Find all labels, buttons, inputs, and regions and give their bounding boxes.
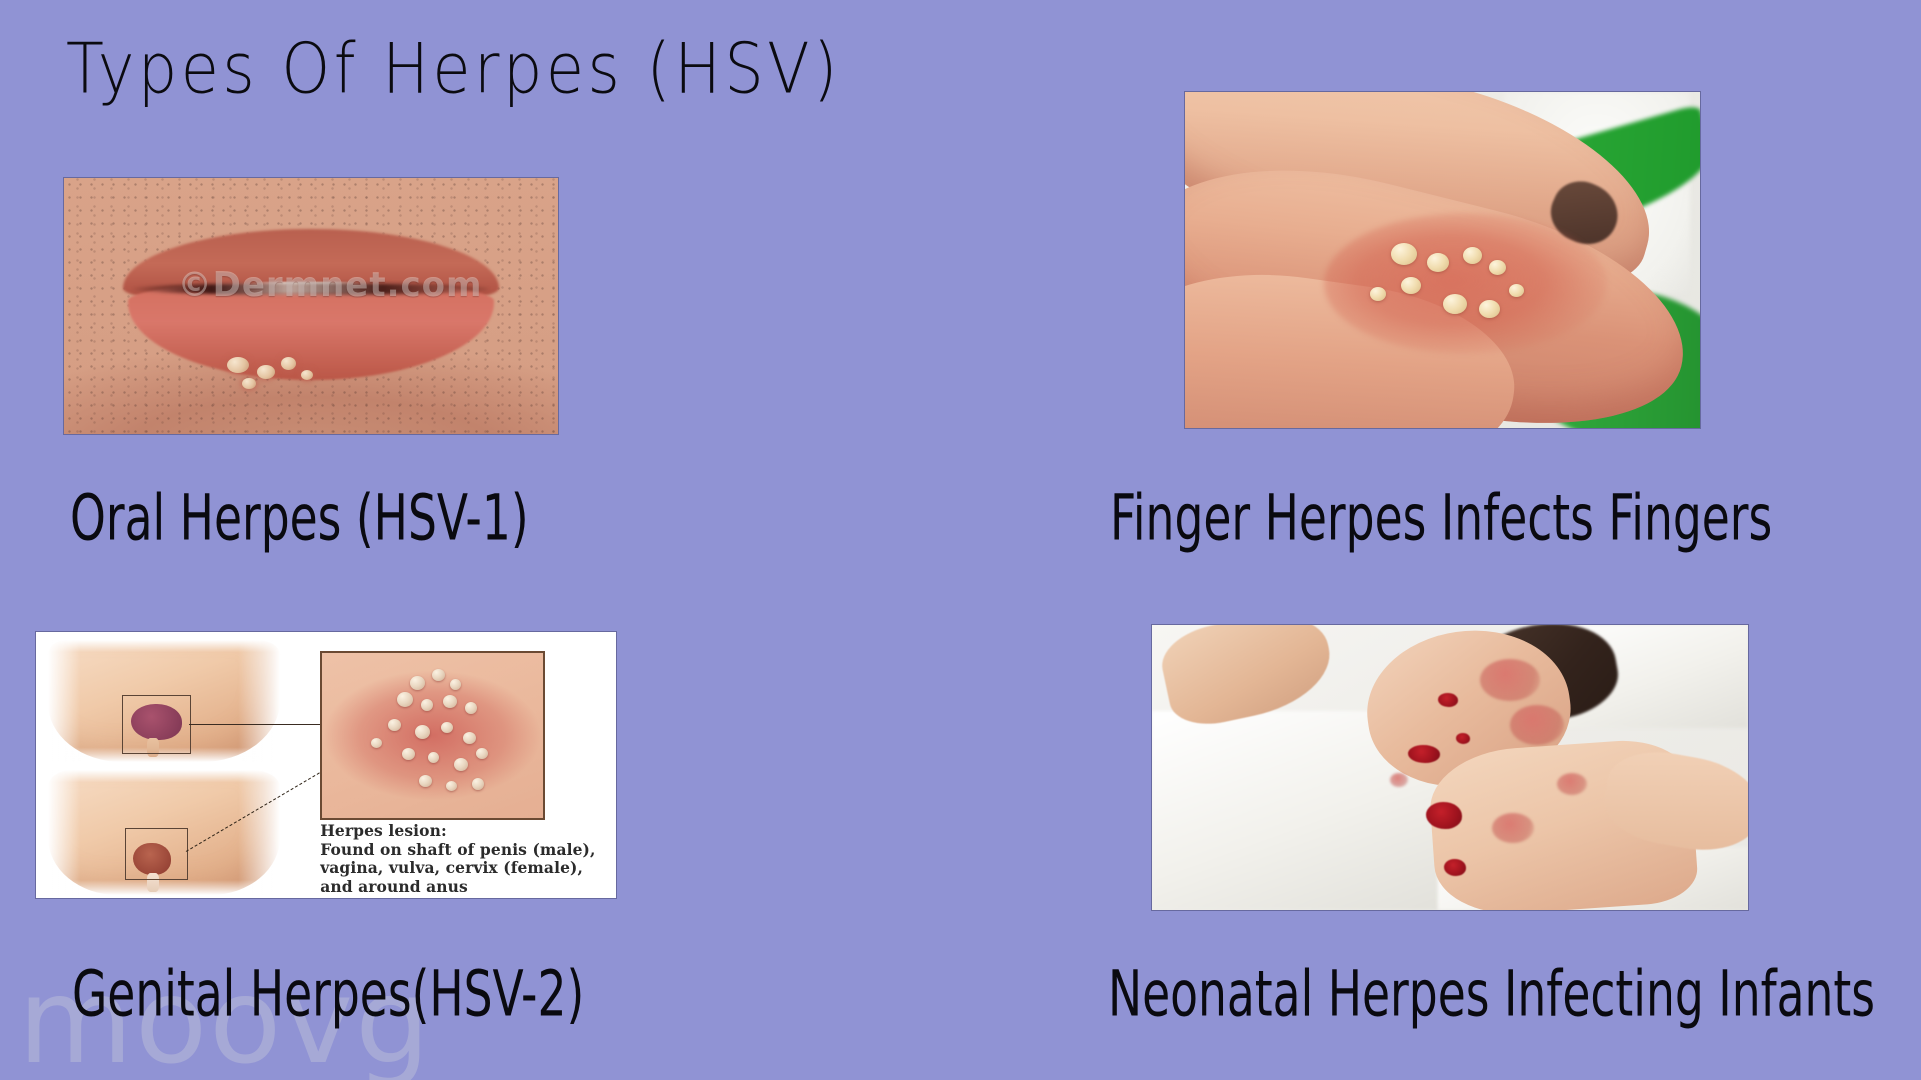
lesion-description-text: Herpes lesion: Found on shaft of penis (… xyxy=(320,822,595,896)
lesion-vesicle xyxy=(465,702,477,714)
finger-herpes-caption: Finger Herpes Infects Fingers xyxy=(1110,486,1772,550)
oral-herpes-caption: Oral Herpes (HSV-1) xyxy=(70,486,529,550)
lesion-vesicle xyxy=(454,758,468,771)
skin-lesion xyxy=(1408,745,1440,763)
cold-sore-blister xyxy=(242,378,256,389)
herpetic-vesicle xyxy=(1509,284,1524,297)
genital-herpes-image: Herpes lesion: Found on shaft of penis (… xyxy=(36,632,616,898)
erythema-patch xyxy=(1324,213,1607,354)
male-leader-line xyxy=(189,724,321,725)
skin-lesion xyxy=(1492,813,1534,843)
lesion-vesicle xyxy=(443,695,457,708)
herpetic-vesicle xyxy=(1401,277,1421,294)
mouth-line xyxy=(133,283,489,295)
lesion-vesicle xyxy=(463,732,476,744)
skin-lesion xyxy=(1456,733,1470,744)
lesion-vesicle xyxy=(421,699,433,711)
magnified-lesion-inset xyxy=(320,651,544,820)
skin-lesion xyxy=(1480,659,1540,701)
lesion-vesicle xyxy=(446,781,457,791)
oral-herpes-image: ©Dermnet.com xyxy=(64,178,558,434)
lesion-vesicle xyxy=(476,748,488,759)
female-callout-box xyxy=(125,828,188,881)
herpetic-vesicle xyxy=(1443,294,1467,314)
skin-lesion xyxy=(1426,802,1462,829)
herpetic-vesicle xyxy=(1489,260,1506,275)
neonatal-herpes-caption: Neonatal Herpes Infecting Infants xyxy=(1108,962,1875,1026)
skin-lesion xyxy=(1438,693,1458,707)
lesion-vesicle xyxy=(397,692,413,707)
skin-lesion xyxy=(1510,705,1564,745)
lesion-vesicle xyxy=(415,725,430,739)
lesion-vesicle xyxy=(410,676,425,690)
skin-lesion xyxy=(1444,859,1466,876)
lesion-vesicle xyxy=(472,778,484,790)
genital-herpes-caption: Genital Herpes(HSV-2) xyxy=(72,962,584,1026)
finger-herpes-image xyxy=(1185,92,1700,428)
neonatal-herpes-image xyxy=(1152,625,1748,910)
lesion-vesicle xyxy=(428,752,439,763)
herpetic-vesicle xyxy=(1463,247,1482,264)
slide-canvas: moovg Types Of Herpes (HSV) ©Dermnet.com… xyxy=(0,0,1921,1080)
cold-sore-blister xyxy=(257,365,275,379)
lesion-vesicle xyxy=(419,775,432,787)
lesion-vesicle xyxy=(371,738,382,748)
lesion-vesicle xyxy=(441,722,453,733)
page-title: Types Of Herpes (HSV) xyxy=(66,32,841,105)
lesion-vesicle xyxy=(450,679,461,690)
male-callout-box xyxy=(122,695,191,754)
lesion-vesicle xyxy=(388,719,401,731)
herpetic-vesicle xyxy=(1479,300,1500,318)
lesion-vesicle xyxy=(402,748,415,760)
lesion-vesicle xyxy=(432,669,445,681)
